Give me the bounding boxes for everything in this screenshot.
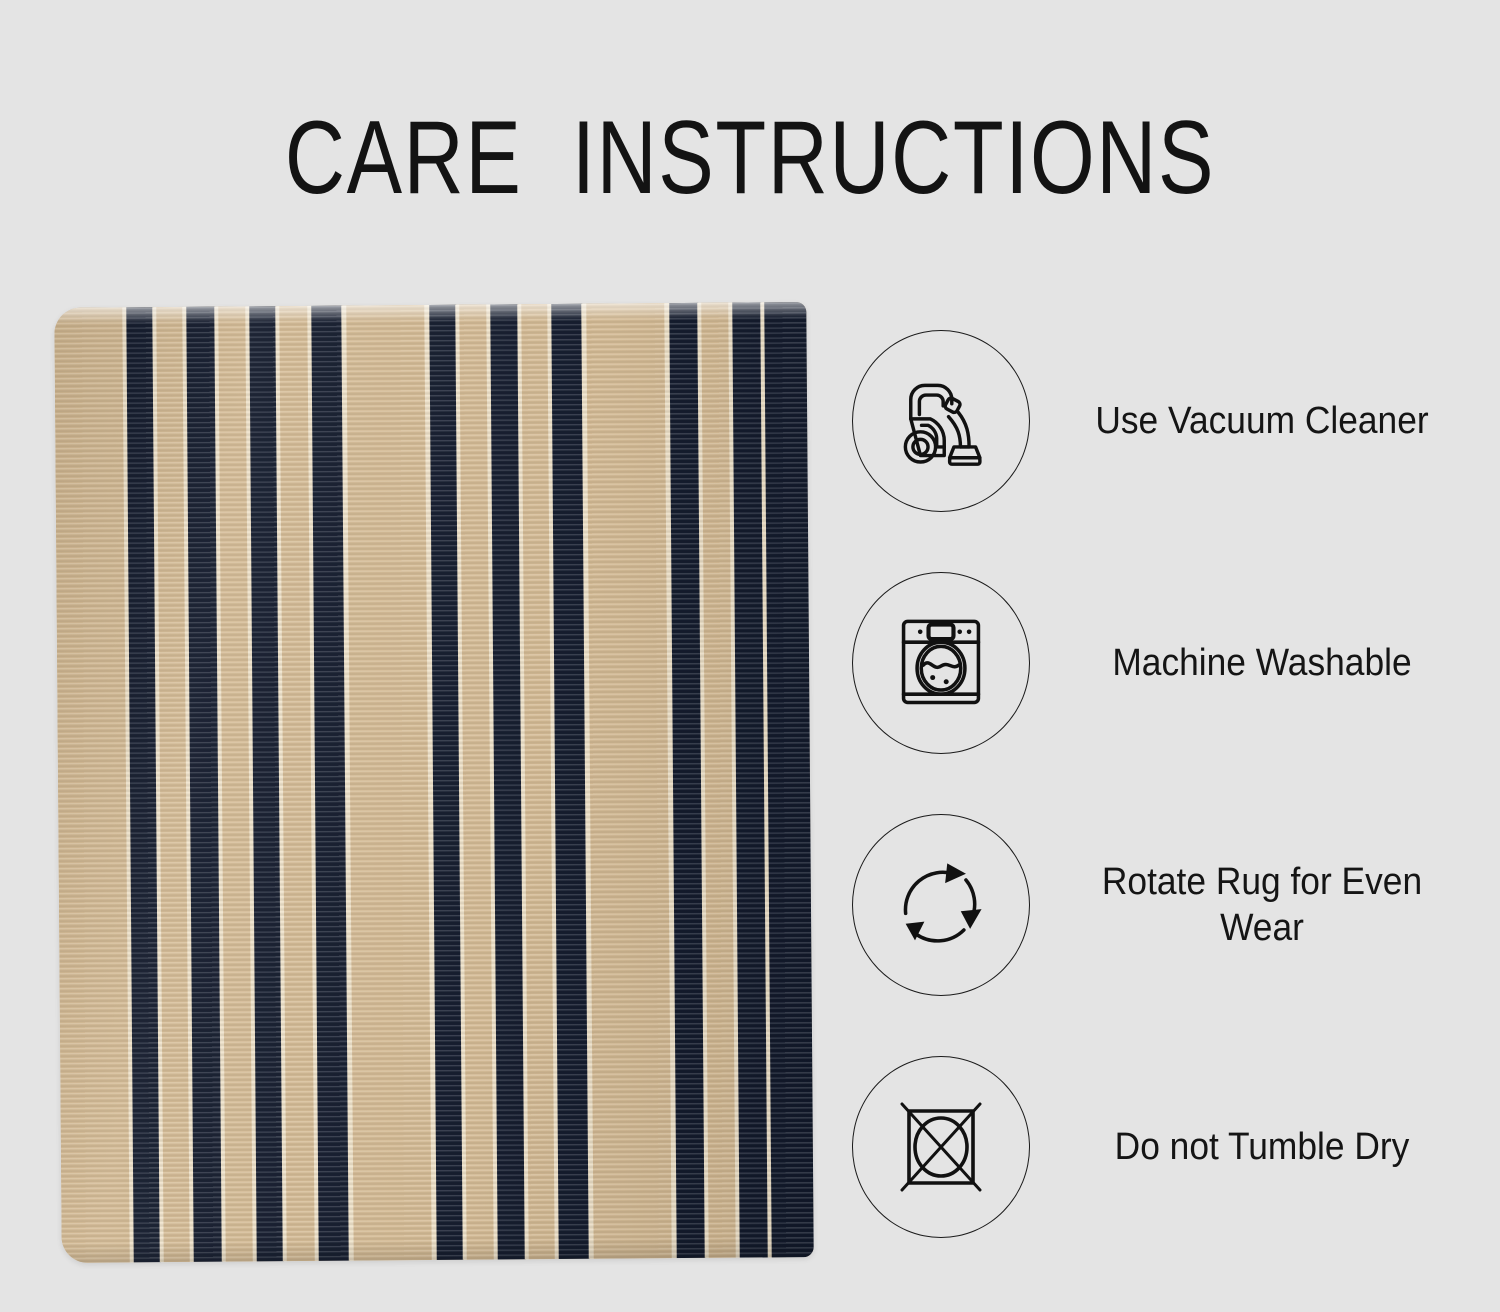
vacuum-cleaner-icon (852, 330, 1030, 512)
care-item-no-tumble-dry: Do not Tumble Dry (852, 1026, 1482, 1268)
care-instruction-list: Use Vacuum Cleaner (852, 300, 1482, 1268)
care-item-label: Use Vacuum Cleaner (1057, 398, 1466, 444)
care-item-label: Machine Washable (1057, 640, 1466, 686)
care-item-vacuum: Use Vacuum Cleaner (852, 300, 1482, 542)
rotate-arrows-icon (852, 814, 1030, 996)
page-title: CARE INSTRUCTIONS (150, 104, 1350, 213)
care-item-rotate: Rotate Rug for Even Wear (852, 784, 1482, 1026)
rug-weave-highlight (54, 302, 813, 1263)
washing-machine-icon (852, 572, 1030, 754)
rug-product-image (58, 305, 810, 1260)
rug-surface (54, 302, 813, 1263)
care-instructions-infographic: CARE INSTRUCTIONS (0, 0, 1500, 1312)
care-item-label: Do not Tumble Dry (1057, 1124, 1466, 1170)
care-item-label: Rotate Rug for Even Wear (1057, 859, 1466, 952)
no-tumble-dry-icon (852, 1056, 1030, 1238)
care-item-machine-washable: Machine Washable (852, 542, 1482, 784)
